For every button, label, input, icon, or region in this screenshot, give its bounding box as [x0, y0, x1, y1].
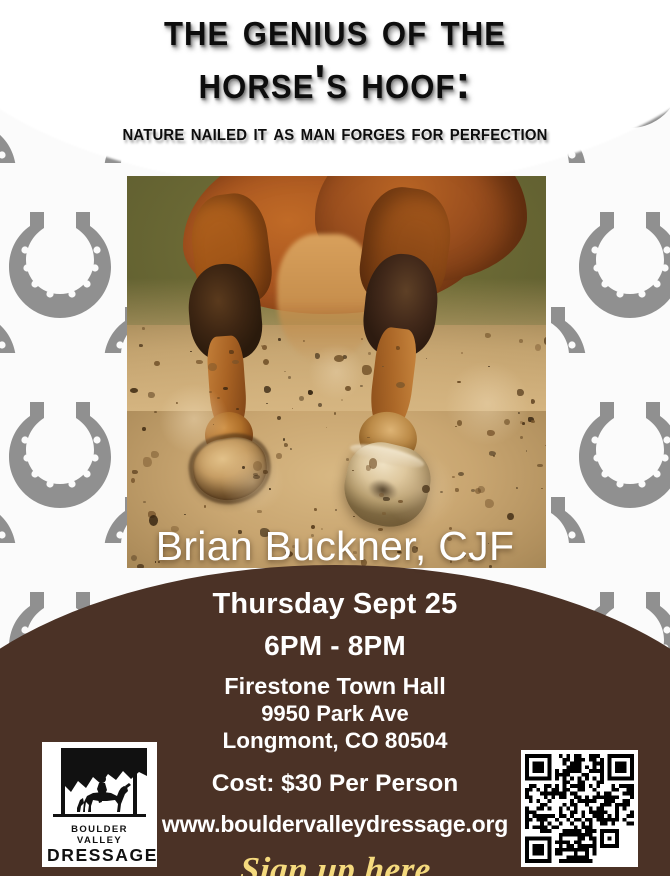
- poster-title-line-2: Horse's Hoof:: [20, 59, 650, 105]
- horse-hooves-photo: [127, 176, 546, 568]
- event-venue: Firestone Town Hall: [0, 673, 670, 700]
- event-street-address: 9950 Park Ave: [0, 701, 670, 727]
- boulder-valley-dressage-logo: BOULDER VALLEY DRESSAGE: [42, 742, 157, 867]
- event-time: 6PM - 8PM: [0, 630, 670, 662]
- photo-dirt-clods: [127, 176, 546, 568]
- event-date: Thursday Sept 25: [0, 588, 670, 621]
- logo-text-line-1: BOULDER VALLEY: [47, 824, 152, 846]
- poster-heading-block: The Genius of the Horse's Hoof: Nature n…: [0, 6, 670, 146]
- sign-up-link[interactable]: Sign up here: [238, 850, 432, 876]
- event-poster: The Genius of the Horse's Hoof: Nature n…: [0, 0, 670, 876]
- logo-text-line-2: DRESSAGE: [47, 846, 152, 864]
- poster-subtitle: Nature nailed it As man forges for perfe…: [23, 119, 646, 146]
- speaker-name: Brian Buckner, CJF: [0, 523, 670, 570]
- qr-code[interactable]: [521, 750, 638, 867]
- poster-title-line-1: The Genius of the: [20, 6, 650, 52]
- logo-artwork: [47, 746, 152, 822]
